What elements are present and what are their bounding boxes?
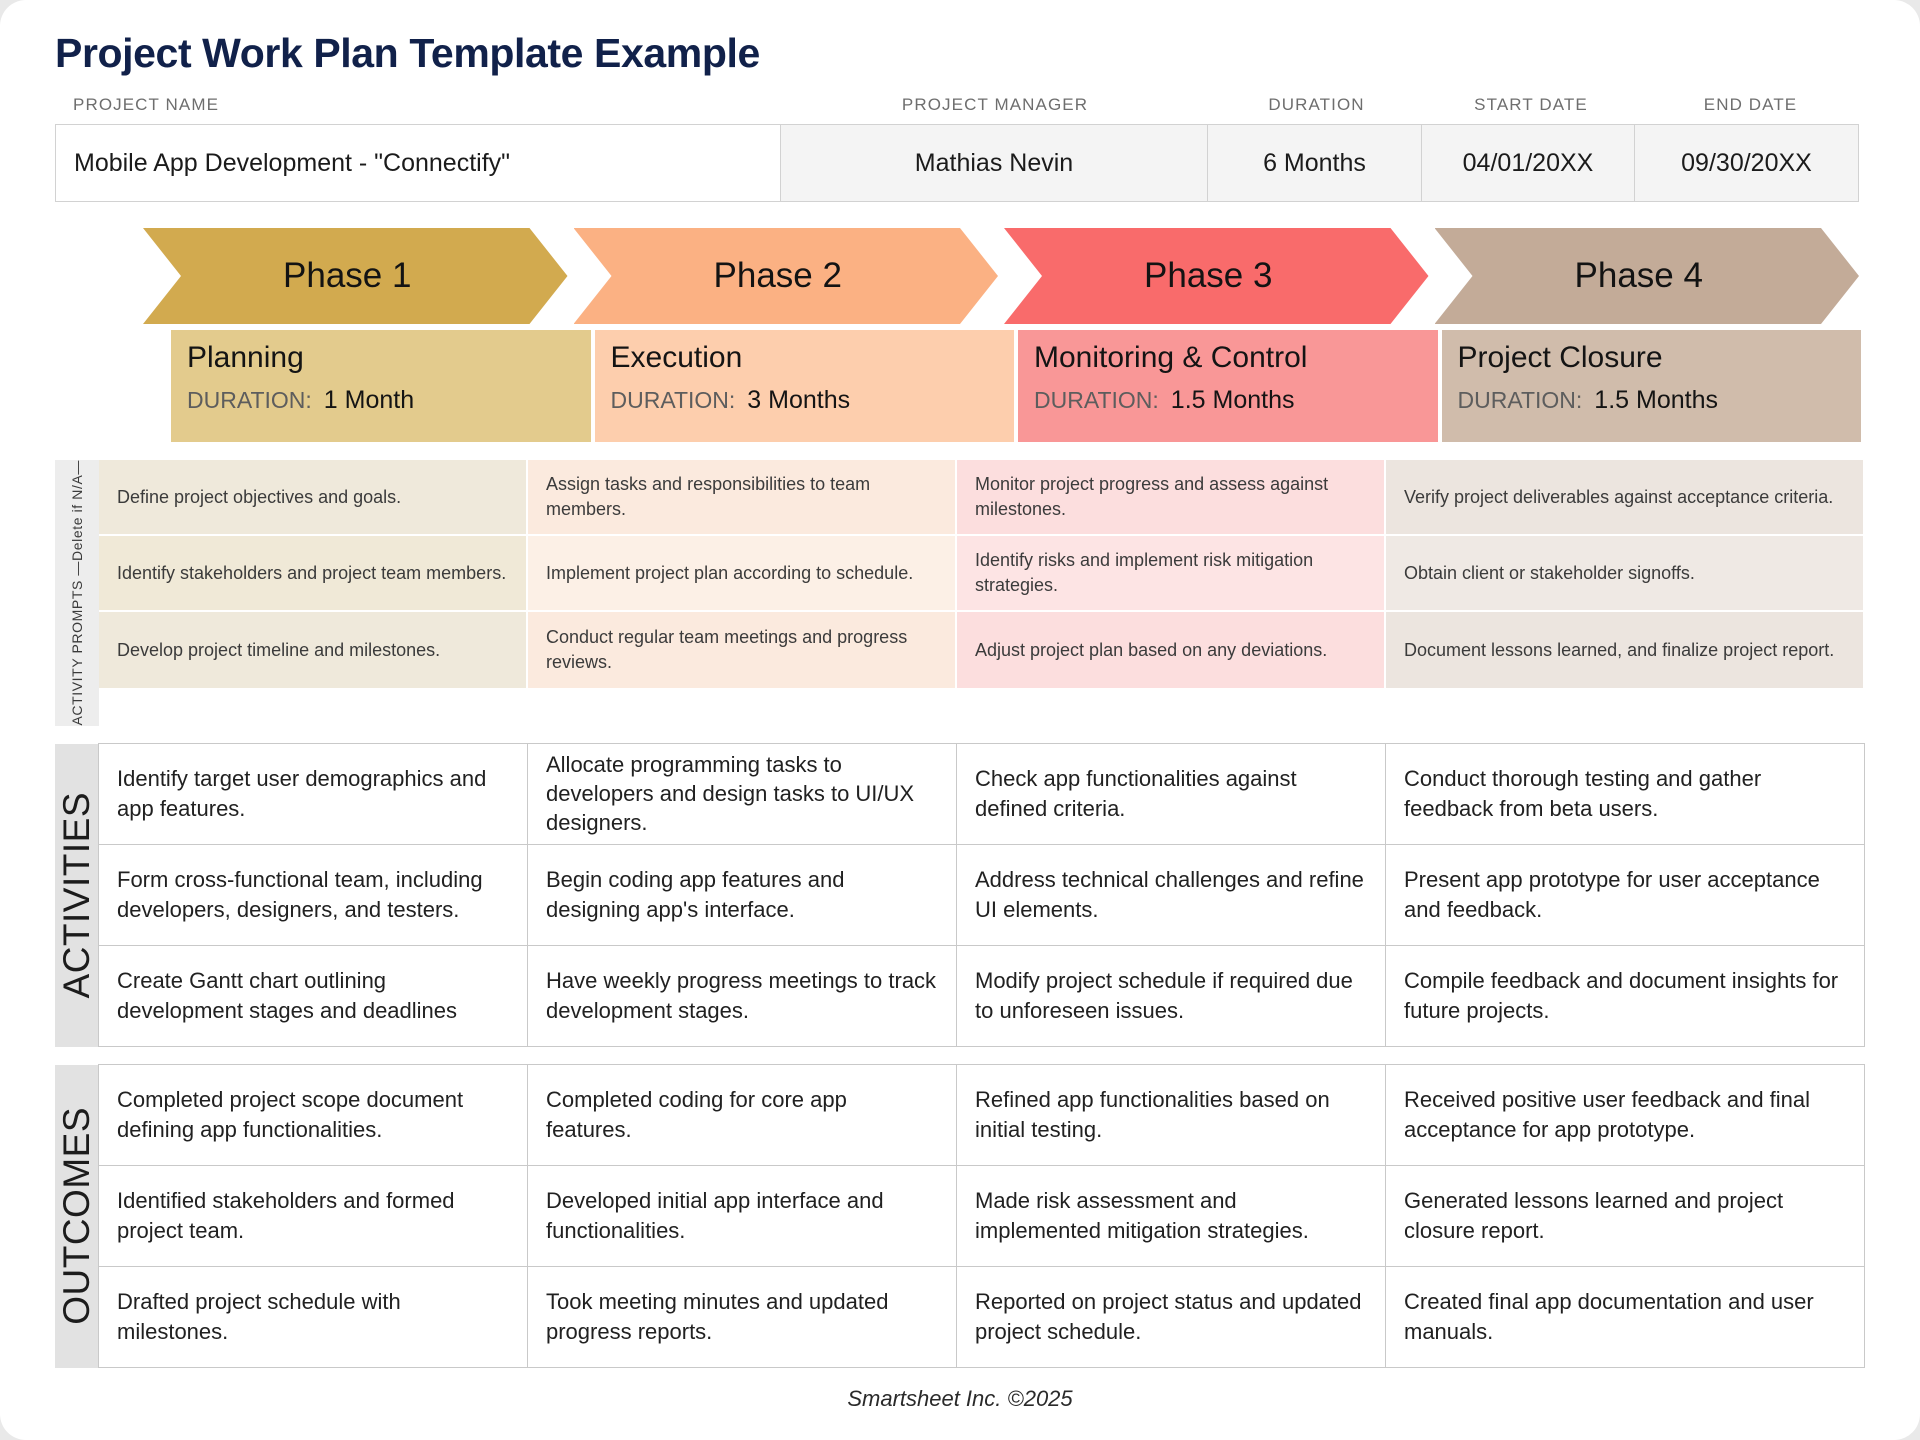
outcome-column-4: Received positive user feedback and fina… [1386,1065,1865,1368]
phase-chevron-4[interactable]: Phase 4 [1435,228,1860,324]
activity-cell[interactable]: Begin coding app features and designing … [527,844,957,946]
activity-cell[interactable]: Present app prototype for user acceptanc… [1385,844,1865,946]
phase-duration-label: DURATION: [187,387,312,413]
label-project-manager: PROJECT MANAGER [781,95,1209,124]
outcome-cell[interactable]: Refined app functionalities based on ini… [956,1064,1386,1166]
phase-duration-label: DURATION: [611,387,736,413]
page-title: Project Work Plan Template Example [55,0,1865,95]
phase-chevron-row: Phase 1Phase 2Phase 3Phase 4 [55,228,1865,324]
activity-cell[interactable]: Modify project schedule if required due … [956,945,1386,1047]
activity-prompt-column-2: Assign tasks and responsibilities to tea… [528,460,957,726]
phase-chevron-label: Phase 1 [283,256,411,296]
phase-duration-label: DURATION: [1034,387,1159,413]
outcome-cell[interactable]: Drafted project schedule with milestones… [98,1266,528,1368]
phase-duration-value: 1 Month [324,386,414,414]
activity-cell[interactable]: Address technical challenges and refine … [956,844,1386,946]
label-start-date: START DATE [1424,95,1638,124]
phase-chevron-label: Phase 4 [1575,256,1703,296]
activity-prompt-cell[interactable]: Adjust project plan based on any deviati… [957,612,1386,688]
activity-column-4: Conduct thorough testing and gather feed… [1386,744,1865,1047]
activity-cell[interactable]: Compile feedback and document insights f… [1385,945,1865,1047]
phase-duration-label: DURATION: [1458,387,1583,413]
activity-prompt-cell[interactable]: Identify risks and implement risk mitiga… [957,536,1386,612]
phase-duration: DURATION:3 Months [611,386,1015,415]
outcome-column-1: Completed project scope document definin… [99,1065,528,1368]
outcome-cell[interactable]: Created final app documentation and user… [1385,1266,1865,1368]
outcome-column-3: Refined app functionalities based on ini… [957,1065,1386,1368]
outcomes-label: OUTCOMES [55,1065,99,1368]
activity-cell[interactable]: Have weekly progress meetings to track d… [527,945,957,1047]
field-project-manager[interactable]: Mathias Nevin [780,124,1208,202]
phase-name: Project Closure [1458,341,1862,375]
phase-name-bar-4: Project ClosureDURATION:1.5 Months [1442,330,1862,442]
activity-prompt-cell[interactable]: Assign tasks and responsibilities to tea… [528,460,957,536]
work-plan-page: Project Work Plan Template Example PROJE… [0,0,1920,1440]
phase-chevron-2[interactable]: Phase 2 [574,228,999,324]
phase-duration-value: 1.5 Months [1171,386,1295,414]
activity-prompt-column-3: Monitor project progress and assess agai… [957,460,1386,726]
outcome-cell[interactable]: Identified stakeholders and formed proje… [98,1165,528,1267]
outcome-column-2: Completed coding for core app features.D… [528,1065,957,1368]
phase-name: Execution [611,341,1015,375]
phase-duration: DURATION:1.5 Months [1034,386,1438,415]
activity-prompt-cell[interactable]: Define project objectives and goals. [99,460,528,536]
phase-name-bar-3: Monitoring & ControlDURATION:1.5 Months [1018,330,1438,442]
outcome-cell[interactable]: Reported on project status and updated p… [956,1266,1386,1368]
footer-credit: Smartsheet Inc. ©2025 [55,1368,1865,1412]
phase-chevron-label: Phase 2 [714,256,842,296]
phase-name: Monitoring & Control [1034,341,1438,375]
activities-grid: Identify target user demographics and ap… [99,744,1865,1047]
activity-cell[interactable]: Check app functionalities against define… [956,743,1386,845]
phase-name-bar-1: PlanningDURATION:1 Month [171,330,591,442]
field-start-date[interactable]: 04/01/20XX [1421,124,1635,202]
outcome-cell[interactable]: Received positive user feedback and fina… [1385,1064,1865,1166]
outcome-cell[interactable]: Took meeting minutes and updated progres… [527,1266,957,1368]
label-end-date: END DATE [1638,95,1863,124]
activity-prompt-cell[interactable]: Obtain client or stakeholder signoffs. [1386,536,1865,612]
outcomes-section: OUTCOMES Completed project scope documen… [55,1065,1865,1368]
activity-prompt-cell[interactable]: Document lessons learned, and finalize p… [1386,612,1865,688]
phase-name: Planning [187,341,591,375]
phase-name-bar-2: ExecutionDURATION:3 Months [595,330,1015,442]
activity-column-3: Check app functionalities against define… [957,744,1386,1047]
activity-prompt-column-4: Verify project deliverables against acce… [1386,460,1865,726]
outcomes-grid: Completed project scope document definin… [99,1065,1865,1368]
activity-prompts-label: ACTIVITY PROMPTS —Delete if N/A— [55,460,99,726]
phase-duration: DURATION:1.5 Months [1458,386,1862,415]
label-duration: DURATION [1209,95,1424,124]
activity-prompts-section: ACTIVITY PROMPTS —Delete if N/A— Define … [55,460,1865,726]
activity-prompt-cell[interactable]: Develop project timeline and milestones. [99,612,528,688]
outcome-cell[interactable]: Generated lessons learned and project cl… [1385,1165,1865,1267]
phase-name-row: PlanningDURATION:1 MonthExecutionDURATIO… [55,330,1865,442]
activity-column-1: Identify target user demographics and ap… [99,744,528,1047]
outcome-cell[interactable]: Developed initial app interface and func… [527,1165,957,1267]
activity-cell[interactable]: Identify target user demographics and ap… [98,743,528,845]
field-end-date[interactable]: 09/30/20XX [1634,124,1859,202]
project-meta-labels: PROJECT NAME PROJECT MANAGER DURATION ST… [55,95,1865,124]
activity-prompt-cell[interactable]: Monitor project progress and assess agai… [957,460,1386,536]
activity-cell[interactable]: Allocate programming tasks to developers… [527,743,957,845]
activity-cell[interactable]: Conduct thorough testing and gather feed… [1385,743,1865,845]
activity-prompt-cell[interactable]: Conduct regular team meetings and progre… [528,612,957,688]
activity-prompts-grid: Define project objectives and goals.Iden… [99,460,1865,726]
outcome-cell[interactable]: Completed coding for core app features. [527,1064,957,1166]
activity-cell[interactable]: Create Gantt chart outlining development… [98,945,528,1047]
activity-prompt-cell[interactable]: Identify stakeholders and project team m… [99,536,528,612]
project-meta-values: Mobile App Development - "Connectify" Ma… [55,124,1865,202]
field-project-name[interactable]: Mobile App Development - "Connectify" [55,124,781,202]
phase-duration-value: 1.5 Months [1594,386,1718,414]
outcome-cell[interactable]: Completed project scope document definin… [98,1064,528,1166]
label-project-name: PROJECT NAME [55,95,781,124]
activities-label: ACTIVITIES [55,744,99,1047]
phase-chevron-1[interactable]: Phase 1 [143,228,568,324]
field-duration[interactable]: 6 Months [1207,124,1422,202]
activity-prompt-cell[interactable]: Verify project deliverables against acce… [1386,460,1865,536]
activity-column-2: Allocate programming tasks to developers… [528,744,957,1047]
phase-chevron-3[interactable]: Phase 3 [1004,228,1429,324]
outcome-cell[interactable]: Made risk assessment and implemented mit… [956,1165,1386,1267]
activity-prompt-cell[interactable]: Implement project plan according to sche… [528,536,957,612]
activities-section: ACTIVITIES Identify target user demograp… [55,744,1865,1047]
activity-cell[interactable]: Form cross-functional team, including de… [98,844,528,946]
phase-duration: DURATION:1 Month [187,386,591,415]
phase-chevron-label: Phase 3 [1144,256,1272,296]
phase-duration-value: 3 Months [747,386,850,414]
activity-prompt-column-1: Define project objectives and goals.Iden… [99,460,528,726]
